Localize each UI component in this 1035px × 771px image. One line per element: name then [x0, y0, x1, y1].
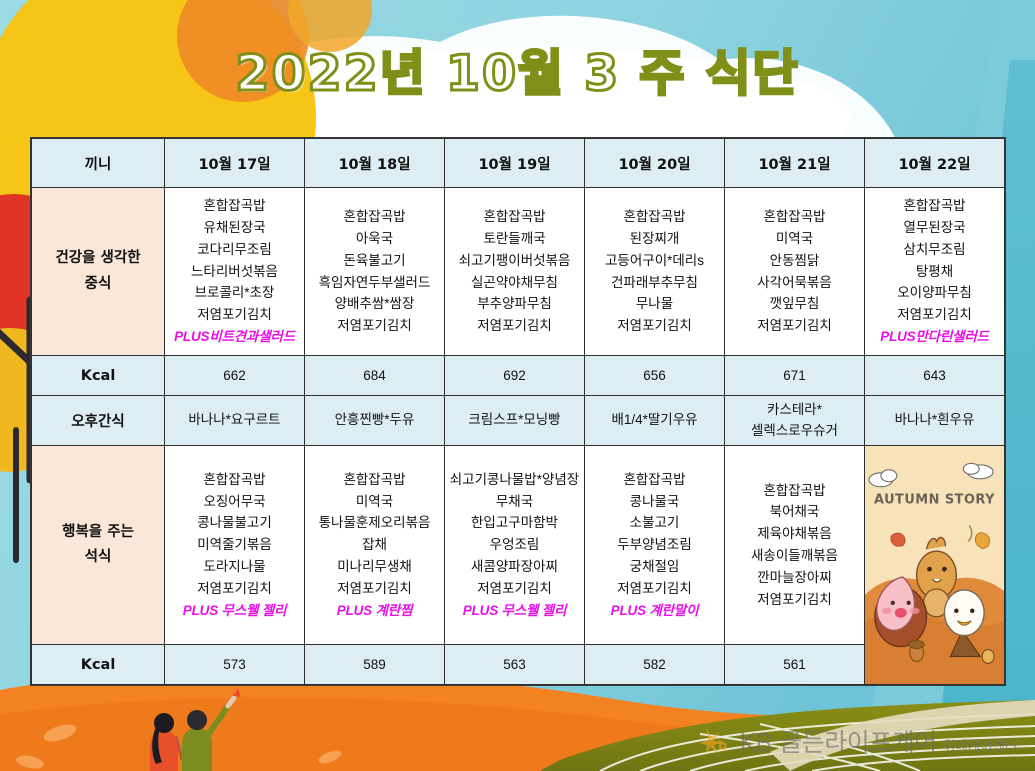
snack-cell-day-6: 바나나*흰우유 — [865, 396, 1005, 446]
lunch-cell-day-4: 혼합잡곡밥된장찌개고등어구이*데리s건파래부추무침무나물저염포기김치 — [585, 188, 725, 356]
dish-item: 된장찌개 — [587, 228, 722, 250]
dinner-cell-day-1: 혼합잡곡밥오징어무국콩나물불고기미역줄기볶음도라지나물저염포기김치PLUS 무스… — [165, 446, 305, 645]
kb-logo: b KB 골든라이프케어 위례케어센터 — [699, 723, 1017, 759]
dish-item: 궁채절임 — [587, 556, 722, 578]
lunch-kcal-row: Kcal 662 684 692 656 671 643 — [32, 356, 1005, 396]
dish-item: 쇠고기콩나물밥*양념장 — [447, 469, 582, 491]
snack-line: 셀렉스로우슈거 — [726, 421, 863, 441]
dish-item: 콩나물국 — [587, 491, 722, 513]
dish-item: 혼합잡곡밥 — [307, 206, 442, 228]
dish-item: 제육야채볶음 — [727, 523, 862, 545]
plus-dish-item: PLUS 무스웰 젤리 — [167, 600, 302, 622]
dish-item: 깻잎무침 — [727, 293, 862, 315]
dish-item: 혼합잡곡밥 — [167, 195, 302, 217]
dinner-kcal-day-1: 573 — [165, 645, 305, 685]
dinner-label-line2: 석식 — [33, 545, 163, 570]
dish-item: 오징어무국 — [167, 491, 302, 513]
snack-line: 안흥찐빵*두유 — [306, 410, 443, 430]
autumn-story-illustration: AUTUMN STORY — [865, 446, 1004, 684]
dish-item: 저염포기김치 — [307, 578, 442, 600]
dish-item: 북어채국 — [727, 501, 862, 523]
snack-line: 바나나*흰우유 — [866, 410, 1003, 430]
dish-item: 열무된장국 — [867, 217, 1002, 239]
dish-item: 저염포기김치 — [727, 589, 862, 611]
autumn-story-caption: AUTUMN STORY — [874, 493, 995, 508]
dish-item: 저염포기김치 — [447, 315, 582, 337]
autumn-story-illustration-cell: AUTUMN STORY — [865, 446, 1005, 685]
dish-item: 부추양파무침 — [447, 293, 582, 315]
plus-dish-item: PLUS 무스웰 젤리 — [447, 600, 582, 622]
dinner-kcal-day-2: 589 — [305, 645, 445, 685]
dish-item: 저염포기김치 — [447, 578, 582, 600]
snack-row: 오후간식 바나나*요구르트 안흥찐빵*두유 크림스프*모닝빵 배1/4*딸기우유… — [32, 396, 1005, 446]
dish-item: 탕평채 — [867, 261, 1002, 283]
dinner-cell-day-2: 혼합잡곡밥미역국통나물훈제오리볶음잡채미나리무생채저염포기김치PLUS 계란찜 — [305, 446, 445, 645]
dish-item: 두부양념조림 — [587, 534, 722, 556]
dish-item: 깐마늘장아찌 — [727, 567, 862, 589]
snack-row-label: 오후간식 — [32, 396, 165, 446]
dish-item: 미역국 — [307, 491, 442, 513]
lunch-cell-day-6: 혼합잡곡밥열무된장국삼치무조림탕평채오이양파무침저염포기김치PLUS만다린샐러드 — [865, 188, 1005, 356]
dish-item: 오이양파무침 — [867, 282, 1002, 304]
dish-item: 혼합잡곡밥 — [867, 195, 1002, 217]
dish-item: 쇠고기팽이버섯볶음 — [447, 250, 582, 272]
header-day-4: 10월 20일 — [585, 139, 725, 188]
dish-item: 미역국 — [727, 228, 862, 250]
header-day-6: 10월 22일 — [865, 139, 1005, 188]
dish-item: 브로콜리*초장 — [167, 282, 302, 304]
lunch-cell-day-2: 혼합잡곡밥아욱국돈육불고기흑임자연두부샐러드양배추쌈*쌈장저염포기김치 — [305, 188, 445, 356]
plus-dish-item: PLUS비트견과샐러드 — [167, 326, 302, 348]
dish-item: 잡채 — [307, 534, 442, 556]
dish-item: 저염포기김치 — [167, 578, 302, 600]
dish-item: 저염포기김치 — [727, 315, 862, 337]
kb-logo-text: KB 골든라이프케어 — [739, 723, 937, 759]
dish-item: 양배추쌈*쌈장 — [307, 293, 442, 315]
lunch-row-label: 건강을 생각한 중식 — [32, 188, 165, 356]
dinner-cell-day-3: 쇠고기콩나물밥*양념장무채국한입고구마함박우엉조림새콤양파장아찌저염포기김치PL… — [445, 446, 585, 645]
dish-item: 미나리무생채 — [307, 556, 442, 578]
plus-dish-item: PLUS 계란찜 — [307, 600, 442, 622]
plus-dish-item: PLUS만다린샐러드 — [867, 326, 1002, 348]
header-day-1: 10월 17일 — [165, 139, 305, 188]
dish-item: 혼합잡곡밥 — [307, 469, 442, 491]
dinner-cell-day-5: 혼합잡곡밥북어채국제육야채볶음새송이들깨볶음깐마늘장아찌저염포기김치 — [725, 446, 865, 645]
dish-item: 우엉조림 — [447, 534, 582, 556]
dish-item: 건파래부추무침 — [587, 272, 722, 294]
dish-item: 유채된장국 — [167, 217, 302, 239]
dish-item: 안동찜닭 — [727, 250, 862, 272]
dish-item: 새송이들깨볶음 — [727, 545, 862, 567]
header-day-3: 10월 19일 — [445, 139, 585, 188]
dish-item: 새콤양파장아찌 — [447, 556, 582, 578]
page-title-container: 2022년 10월 3 주 식단 — [0, 34, 1035, 105]
lunch-label-line2: 중식 — [33, 272, 163, 297]
lunch-cell-day-5: 혼합잡곡밥미역국안동찜닭사각어묵볶음깻잎무침저염포기김치 — [725, 188, 865, 356]
dish-item: 혼합잡곡밥 — [587, 206, 722, 228]
dish-item: 혼합잡곡밥 — [727, 206, 862, 228]
dinner-cell-day-4: 혼합잡곡밥콩나물국소불고기두부양념조림궁채절임저염포기김치PLUS 계란말이 — [585, 446, 725, 645]
header-day-5: 10월 21일 — [725, 139, 865, 188]
dinner-kcal-row: Kcal 573 589 563 582 561 — [32, 645, 1005, 685]
lunch-kcal-day-6: 643 — [865, 356, 1005, 396]
weekly-meal-table: 끼니 10월 17일 10월 18일 10월 19일 10월 20일 10월 2… — [31, 138, 1005, 685]
dish-item: 한입고구마함박 — [447, 512, 582, 534]
dish-item: 고등어구이*데리s — [587, 250, 722, 272]
dish-item: 돈육불고기 — [307, 250, 442, 272]
lunch-kcal-day-1: 662 — [165, 356, 305, 396]
page-title: 2022년 10월 3 주 식단 — [235, 34, 799, 105]
header-meal-type: 끼니 — [32, 139, 165, 188]
table-header-row: 끼니 10월 17일 10월 18일 10월 19일 10월 20일 10월 2… — [32, 139, 1005, 188]
dish-item: 저염포기김치 — [167, 304, 302, 326]
dish-item: 무채국 — [447, 491, 582, 513]
dish-item: 혼합잡곡밥 — [727, 480, 862, 502]
dinner-kcal-day-5: 561 — [725, 645, 865, 685]
plus-dish-item: PLUS 계란말이 — [587, 600, 722, 622]
lunch-cell-day-1: 혼합잡곡밥유채된장국코다리무조림느타리버섯볶음브로콜리*초장저염포기김치PLUS… — [165, 188, 305, 356]
dish-item: 콩나물불고기 — [167, 512, 302, 534]
lunch-kcal-day-4: 656 — [585, 356, 725, 396]
dinner-kcal-day-3: 563 — [445, 645, 585, 685]
dish-item: 도라지나물 — [167, 556, 302, 578]
dish-item: 저염포기김치 — [307, 315, 442, 337]
snack-cell-day-5: 카스테라*셀렉스로우슈거 — [725, 396, 865, 446]
dish-item: 혼합잡곡밥 — [587, 469, 722, 491]
dish-item: 흑임자연두부샐러드 — [307, 272, 442, 294]
dish-item: 통나물훈제오리볶음 — [307, 512, 442, 534]
snack-cell-day-1: 바나나*요구르트 — [165, 396, 305, 446]
svg-text:b: b — [718, 739, 727, 754]
snack-line: 배1/4*딸기우유 — [586, 410, 723, 430]
header-day-2: 10월 18일 — [305, 139, 445, 188]
lunch-kcal-label: Kcal — [32, 356, 165, 396]
dish-item: 소불고기 — [587, 512, 722, 534]
snack-cell-day-2: 안흥찐빵*두유 — [305, 396, 445, 446]
snack-line: 크림스프*모닝빵 — [446, 410, 583, 430]
dish-item: 삼치무조림 — [867, 239, 1002, 261]
lunch-kcal-day-5: 671 — [725, 356, 865, 396]
lunch-kcal-day-3: 692 — [445, 356, 585, 396]
dish-item: 아욱국 — [307, 228, 442, 250]
dish-item: 혼합잡곡밥 — [447, 206, 582, 228]
dinner-label-line1: 행복을 주는 — [33, 520, 163, 545]
dinner-kcal-label: Kcal — [32, 645, 165, 685]
dinner-row: 행복을 주는 석식 혼합잡곡밥오징어무국콩나물불고기미역줄기볶음도라지나물저염포… — [32, 446, 1005, 645]
dish-item: 저염포기김치 — [867, 304, 1002, 326]
dish-item: 토란들깨국 — [447, 228, 582, 250]
snack-cell-day-4: 배1/4*딸기우유 — [585, 396, 725, 446]
lunch-label-line1: 건강을 생각한 — [33, 246, 163, 271]
dish-item: 저염포기김치 — [587, 315, 722, 337]
lunch-row: 건강을 생각한 중식 혼합잡곡밥유채된장국코다리무조림느타리버섯볶음브로콜리*초… — [32, 188, 1005, 356]
dish-item: 저염포기김치 — [587, 578, 722, 600]
kb-star-icon: b — [699, 726, 733, 756]
dish-item: 사각어묵볶음 — [727, 272, 862, 294]
lunch-cell-day-3: 혼합잡곡밥토란들깨국쇠고기팽이버섯볶음실곤약야채무침부추양파무침저염포기김치 — [445, 188, 585, 356]
dish-item: 무나물 — [587, 293, 722, 315]
lunch-kcal-day-2: 684 — [305, 356, 445, 396]
dish-item: 실곤약야채무침 — [447, 272, 582, 294]
dinner-kcal-day-4: 582 — [585, 645, 725, 685]
dinner-row-label: 행복을 주는 석식 — [32, 446, 165, 645]
dish-item: 코다리무조림 — [167, 239, 302, 261]
dish-item: 혼합잡곡밥 — [167, 469, 302, 491]
snack-line: 카스테라* — [726, 400, 863, 420]
dish-item: 미역줄기볶음 — [167, 534, 302, 556]
dish-item: 느타리버섯볶음 — [167, 261, 302, 283]
snack-cell-day-3: 크림스프*모닝빵 — [445, 396, 585, 446]
kb-logo-subtext: 위례케어센터 — [943, 736, 1017, 759]
snack-line: 바나나*요구르트 — [166, 410, 303, 430]
